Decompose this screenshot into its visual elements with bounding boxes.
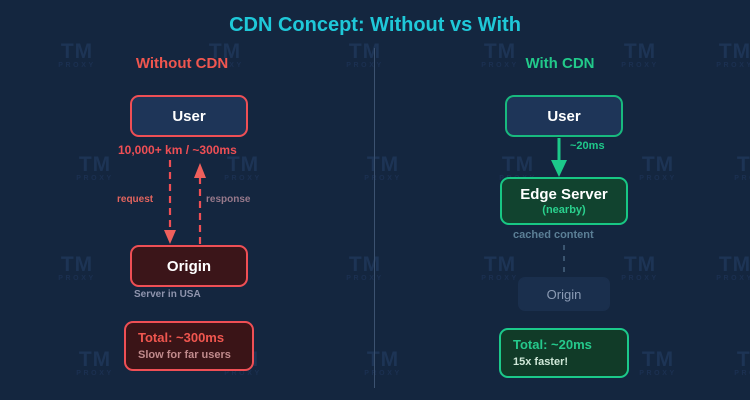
watermark-tile: TMPROXY — [700, 42, 750, 70]
without-cdn-total-value: Total: ~300ms — [138, 330, 224, 346]
with-cdn-edge-server-box[interactable]: Edge Server (nearby) — [500, 177, 628, 225]
watermark-tile: TMPROXY — [718, 155, 750, 183]
cached-content-label: cached content — [513, 229, 594, 241]
watermark-proxy-text: PROXY — [208, 175, 278, 183]
latency-arrow-head — [551, 160, 567, 177]
with-cdn-origin-label: Origin — [547, 286, 582, 303]
watermark-proxy-text: PROXY — [700, 275, 750, 283]
watermark-proxy-text: PROXY — [718, 370, 750, 378]
watermark-tm-text: TM — [465, 255, 535, 275]
without-cdn-total-box: Total: ~300ms Slow for far users — [124, 321, 254, 371]
page-title: CDN Concept: Without vs With — [0, 14, 750, 37]
watermark-proxy-text: PROXY — [330, 275, 400, 283]
watermark-tm-text: TM — [483, 155, 553, 175]
watermark-tile: TMPROXY — [623, 350, 693, 378]
watermark-proxy-text: PROXY — [623, 175, 693, 183]
watermark-proxy-text: PROXY — [42, 275, 112, 283]
response-arrow-head — [194, 163, 206, 178]
watermark-tm-text: TM — [718, 350, 750, 370]
watermark-tile: TMPROXY — [605, 255, 675, 283]
watermark-tile: TMPROXY — [330, 42, 400, 70]
watermark-tile: TMPROXY — [42, 255, 112, 283]
watermark-proxy-text: PROXY — [348, 175, 418, 183]
with-cdn-user-label: User — [547, 108, 580, 125]
watermark-proxy-text: PROXY — [623, 370, 693, 378]
distance-latency-label: 10,000+ km / ~300ms — [118, 143, 237, 157]
column-divider — [374, 48, 375, 388]
watermark-proxy-text: PROXY — [60, 370, 130, 378]
origin-location-caption: Server in USA — [134, 289, 201, 300]
watermark-tm-text: TM — [348, 350, 418, 370]
with-cdn-origin-box[interactable]: Origin — [518, 277, 610, 311]
watermark-tm-text: TM — [623, 350, 693, 370]
watermark-tm-text: TM — [623, 155, 693, 175]
watermark-proxy-text: PROXY — [700, 62, 750, 70]
watermark-tm-text: TM — [208, 155, 278, 175]
watermark-tm-text: TM — [330, 42, 400, 62]
watermark-tm-text: TM — [700, 42, 750, 62]
without-cdn-origin-box[interactable]: Origin — [130, 245, 248, 287]
watermark-tm-text: TM — [42, 255, 112, 275]
request-arrow-head — [164, 230, 176, 244]
with-cdn-latency-label: ~20ms — [570, 140, 605, 152]
watermark-tile: TMPROXY — [348, 155, 418, 183]
without-cdn-total-note: Slow for far users — [138, 348, 231, 362]
watermark-proxy-text: PROXY — [348, 370, 418, 378]
watermark-tm-text: TM — [60, 350, 130, 370]
watermark-tile: TMPROXY — [348, 350, 418, 378]
watermark-tile: TMPROXY — [208, 155, 278, 183]
without-cdn-origin-label: Origin — [167, 258, 211, 275]
with-cdn-total-value: Total: ~20ms — [513, 337, 592, 353]
with-cdn-total-note: 15x faster! — [513, 355, 568, 369]
response-label: response — [206, 194, 250, 205]
with-cdn-user-box[interactable]: User — [505, 95, 623, 137]
watermark-tile: TMPROXY — [60, 155, 130, 183]
with-cdn-heading: With CDN — [420, 55, 700, 72]
watermark-tile: TMPROXY — [623, 155, 693, 183]
watermark-tile: TMPROXY — [718, 350, 750, 378]
with-cdn-edge-label: Edge Server — [520, 186, 608, 203]
watermark-proxy-text: PROXY — [605, 275, 675, 283]
watermark-proxy-text: PROXY — [330, 62, 400, 70]
without-cdn-user-label: User — [172, 108, 205, 125]
watermark-tm-text: TM — [60, 155, 130, 175]
watermark-tm-text: TM — [330, 255, 400, 275]
request-label: request — [117, 194, 153, 205]
with-cdn-total-box: Total: ~20ms 15x faster! — [499, 328, 629, 378]
watermark-proxy-text: PROXY — [60, 175, 130, 183]
watermark-tile: TMPROXY — [700, 255, 750, 283]
watermark-tm-text: TM — [605, 255, 675, 275]
watermark-tm-text: TM — [700, 255, 750, 275]
without-cdn-user-box[interactable]: User — [130, 95, 248, 137]
watermark-proxy-text: PROXY — [208, 370, 278, 378]
watermark-tm-text: TM — [718, 155, 750, 175]
cdn-concept-diagram: TMPROXYTMPROXYTMPROXYTMPROXYTMPROXYTMPRO… — [0, 0, 750, 400]
watermark-tile: TMPROXY — [60, 350, 130, 378]
watermark-tile: TMPROXY — [330, 255, 400, 283]
watermark-tm-text: TM — [348, 155, 418, 175]
with-cdn-edge-sublabel: (nearby) — [542, 204, 585, 217]
watermark-proxy-text: PROXY — [718, 175, 750, 183]
without-cdn-heading: Without CDN — [42, 55, 322, 72]
